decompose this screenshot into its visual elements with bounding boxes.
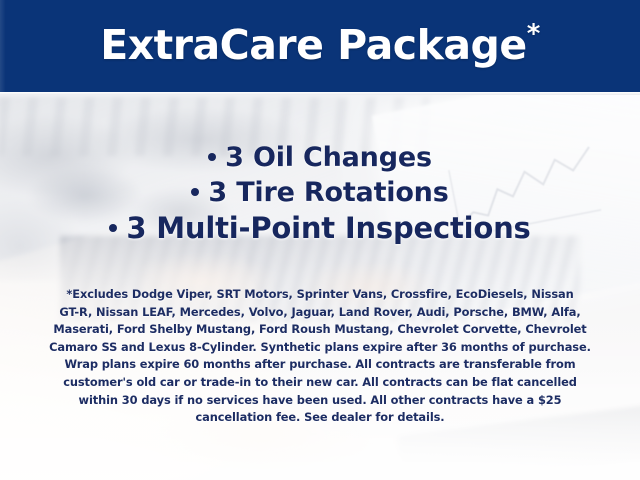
header-banner: ExtraCare Package* [0, 0, 640, 92]
page-title-asterisk: * [527, 19, 540, 49]
list-item: 3 Tire Rotations [0, 175, 640, 210]
disclaimer-line: Maserati, Ford Shelby Mustang, Ford Rous… [26, 321, 614, 339]
bullet-dot-icon [109, 224, 117, 232]
list-item-label: 3 Multi-Point Inspections [126, 211, 530, 245]
disclaimer-line: customer's old car or trade-in to their … [26, 374, 614, 392]
disclaimer-line: Wrap plans expire 60 months after purcha… [26, 356, 614, 374]
offer-list: 3 Oil Changes 3 Tire Rotations 3 Multi-P… [0, 140, 640, 248]
bullet-dot-icon [208, 153, 216, 161]
disclaimer-line: Camaro SS and Lexus 8-Cylinder. Syntheti… [26, 339, 614, 357]
page-title: ExtraCare Package* [100, 25, 540, 68]
disclaimer-line: cancellation fee. See dealer for details… [26, 409, 614, 427]
disclaimer-line: GT-R, Nissan LEAF, Mercedes, Volvo, Jagu… [26, 304, 614, 322]
bullet-dot-icon [191, 188, 199, 196]
list-item: 3 Oil Changes [0, 140, 640, 175]
disclaimer-line: within 30 days if no services have been … [26, 392, 614, 410]
disclaimer-block: *Excludes Dodge Viper, SRT Motors, Sprin… [26, 286, 614, 427]
page-title-text: ExtraCare Package [100, 21, 527, 69]
disclaimer-line: *Excludes Dodge Viper, SRT Motors, Sprin… [26, 286, 614, 304]
list-item-label: 3 Tire Rotations [208, 177, 448, 208]
banner-left-edge-highlight [0, 0, 8, 92]
banner-divider-rule [0, 92, 640, 95]
list-item-label: 3 Oil Changes [225, 142, 432, 173]
extracare-package-ad: ExtraCare Package* 3 Oil Changes 3 Tire … [0, 0, 640, 480]
list-item: 3 Multi-Point Inspections [0, 210, 640, 248]
